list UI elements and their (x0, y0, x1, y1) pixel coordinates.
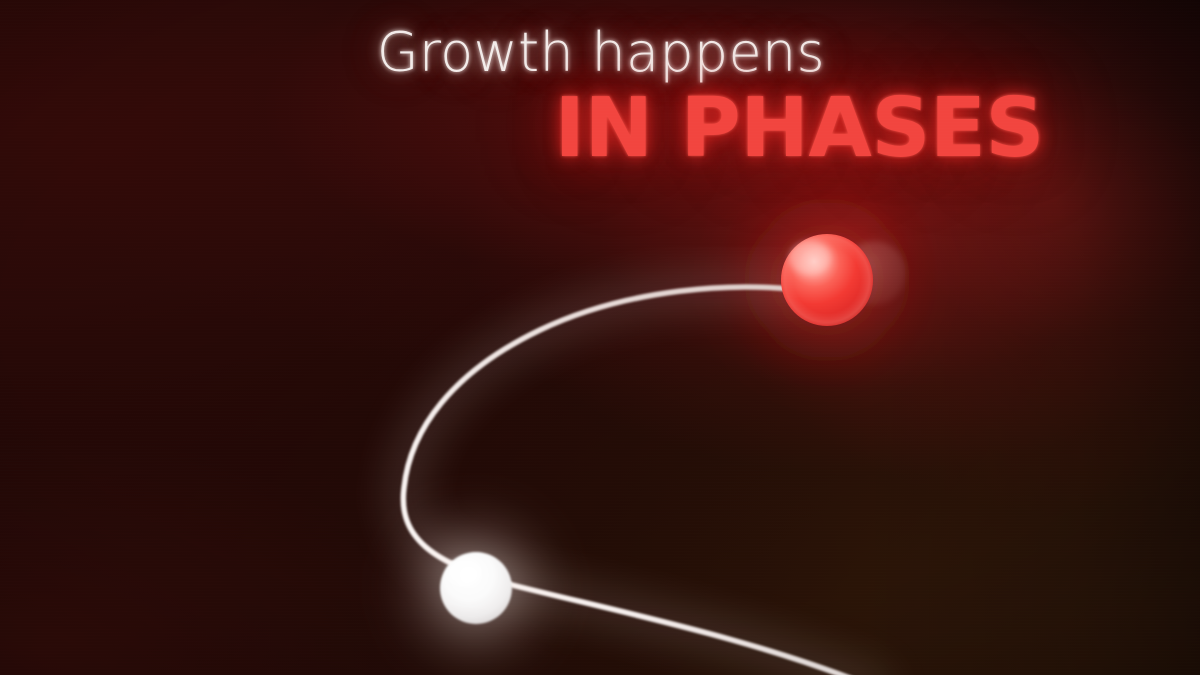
red-sphere (781, 234, 873, 326)
white-sphere (440, 552, 512, 624)
white-sphere-highlight (448, 559, 480, 585)
title-line-primary: Growth happens (0, 26, 1070, 80)
title-block: Growth happens IN PHASES (0, 26, 1070, 170)
slide-canvas: Growth happens IN PHASES (0, 0, 1200, 675)
title-line-emphasis: IN PHASES (0, 88, 1070, 170)
red-sphere-highlight (789, 241, 831, 275)
